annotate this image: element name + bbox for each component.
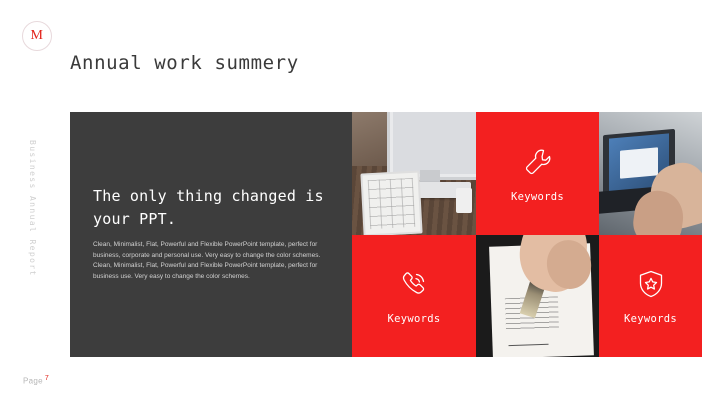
phone-keyword-tile[interactable]: Keywords	[352, 235, 476, 357]
desk-imac-photo	[352, 112, 476, 235]
page-number: 7	[45, 375, 49, 382]
tile-label: Keywords	[511, 191, 564, 203]
footer-label: Page	[23, 377, 43, 386]
panel-body-text: Clean, Minimalist, Flat, Powerful and Fl…	[93, 240, 333, 283]
tablet-grid	[368, 178, 415, 229]
content-grid: The only thing changed is your PPT. Clea…	[70, 112, 702, 357]
shield-keyword-tile[interactable]: Keywords	[599, 235, 702, 357]
shield-star-icon	[634, 267, 668, 301]
mug	[456, 188, 472, 213]
text-panel: The only thing changed is your PPT. Clea…	[70, 112, 352, 357]
page-title: Annual work summery	[70, 52, 299, 74]
wrench-keyword-tile[interactable]: Keywords	[476, 112, 599, 235]
slide-canvas: M Annual work summery Business Annual Re…	[0, 0, 721, 405]
phone-icon	[397, 267, 431, 301]
signature-pen-photo	[476, 235, 599, 357]
brand-logo: M	[22, 21, 52, 51]
logo-letter: M	[31, 29, 44, 43]
wrench-icon	[521, 145, 555, 179]
footer: Page7	[23, 375, 49, 386]
screen-window	[620, 147, 659, 179]
panel-headline: The only thing changed is your PPT.	[93, 185, 328, 230]
monitor-screen	[393, 112, 476, 174]
laptop-hands-photo	[599, 112, 702, 235]
tile-label: Keywords	[624, 313, 677, 325]
tablet	[360, 171, 422, 235]
signature-line	[508, 330, 549, 346]
vertical-side-label: Business Annual Report	[23, 140, 37, 277]
tile-label: Keywords	[388, 313, 441, 325]
